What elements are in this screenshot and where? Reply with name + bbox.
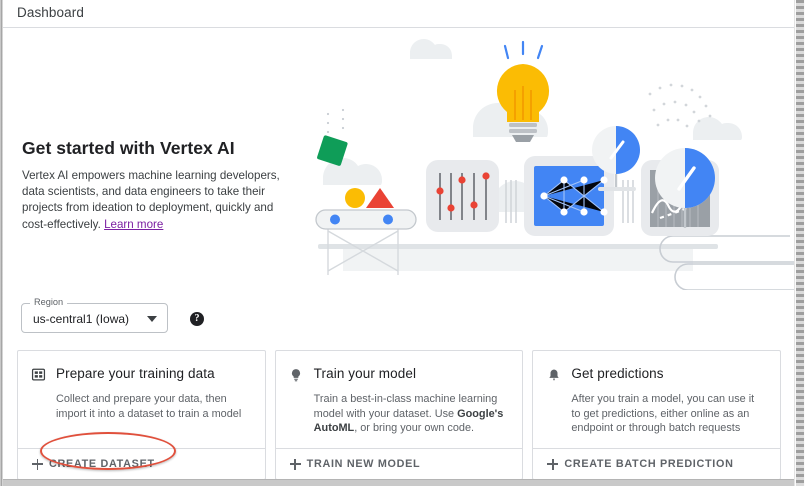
card-footer: TRAIN NEW MODEL [276,448,523,479]
card-description: Train a best-in-class machine learning m… [314,392,509,436]
hero-body: Vertex AI empowers machine learning deve… [22,168,284,233]
page-title: Dashboard [17,5,84,20]
dataset-table-icon [30,365,47,384]
hero-heading: Get started with Vertex AI [22,138,284,159]
card-title: Train your model [314,365,416,382]
card-head: Get predictions [545,365,766,384]
card-body: Train your model Train a best-in-class m… [276,351,523,448]
hero-section: Get started with Vertex AI Vertex AI emp… [3,28,795,290]
train-new-model-button[interactable]: TRAIN NEW MODEL [290,458,421,470]
card-title: Prepare your training data [56,365,215,382]
vertex-ai-illustration [298,28,795,290]
card-description: After you train a model, you can use it … [571,392,766,436]
scrollbar-thumb[interactable] [796,0,804,486]
model-bulb-icon [288,365,305,384]
card-get-predictions[interactable]: Get predictions After you train a model,… [532,350,781,480]
card-head: Prepare your training data [30,365,251,384]
page-header: Dashboard [3,0,795,28]
plus-icon [547,459,558,470]
vertical-scrollbar[interactable] [794,0,805,486]
train-new-model-label: TRAIN NEW MODEL [307,458,421,470]
region-label: Region [30,297,67,307]
create-dataset-label: CREATE DATASET [49,458,155,470]
card-description-tail: , or bring your own code. [354,422,474,434]
card-description-text: Collect and prepare your data, then impo… [56,393,241,420]
plus-icon [32,459,43,470]
help-question-icon[interactable]: ? [190,312,204,326]
card-prepare-training-data[interactable]: Prepare your training data Collect and p… [17,350,266,480]
create-dataset-button[interactable]: CREATE DATASET [32,458,155,470]
card-body: Get predictions After you train a model,… [533,351,780,448]
card-title: Get predictions [571,365,663,382]
card-footer: CREATE BATCH PREDICTION [533,448,780,479]
chevron-down-icon[interactable] [147,316,157,322]
prediction-bell-icon [545,365,562,384]
card-train-your-model[interactable]: Train your model Train a best-in-class m… [275,350,524,480]
region-select[interactable]: Region us-central1 (Iowa) [21,303,168,333]
create-batch-prediction-button[interactable]: CREATE BATCH PREDICTION [547,458,733,470]
hero-copy: Get started with Vertex AI Vertex AI emp… [22,138,284,233]
card-body: Prepare your training data Collect and p… [18,351,265,448]
card-description-text: After you train a model, you can use it … [571,393,754,434]
learn-more-link[interactable]: Learn more [104,218,163,231]
region-selector-row: Region us-central1 (Iowa) ? [21,303,168,337]
region-value: us-central1 (Iowa) [33,312,129,326]
card-description: Collect and prepare your data, then impo… [56,392,251,421]
card-footer: CREATE DATASET [18,448,265,479]
window-bottom-edge [3,479,795,486]
card-head: Train your model [288,365,509,384]
create-batch-prediction-label: CREATE BATCH PREDICTION [564,458,733,470]
getting-started-cards: Prepare your training data Collect and p… [17,350,781,480]
dashboard-page: Dashboard Get started with Vertex AI Ver… [0,0,805,486]
plus-icon [290,459,301,470]
